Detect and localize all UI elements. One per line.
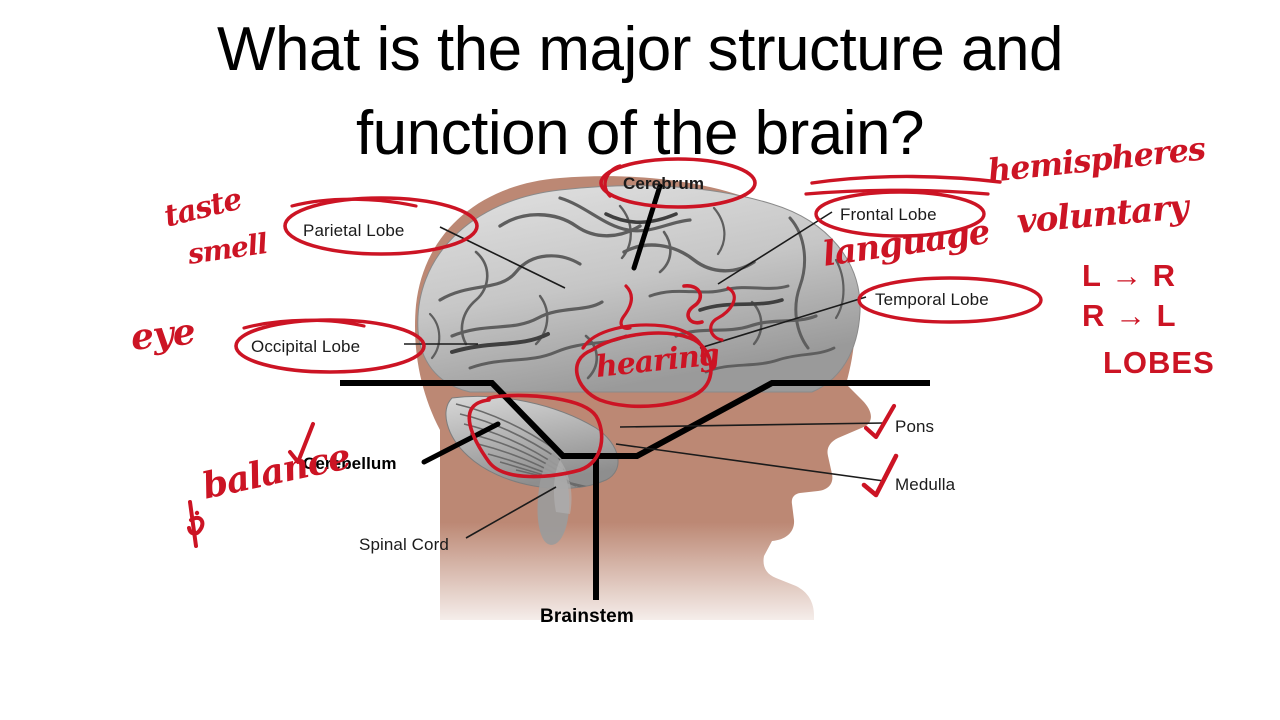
brain-diagram (0, 0, 1280, 720)
ink-stray-dot (195, 511, 199, 515)
label-frontal-lobe: Frontal Lobe (840, 205, 937, 225)
ink-check-medulla (864, 456, 896, 495)
label-cerebrum: Cerebrum (623, 174, 704, 194)
ink-circle-parietal-tail (292, 199, 416, 206)
ink-check-pons (866, 406, 894, 437)
label-occipital-lobe: Occipital Lobe (251, 337, 360, 357)
label-spinal-cord: Spinal Cord (359, 535, 449, 555)
cerebrum-illustration (418, 186, 860, 392)
label-parietal-lobe: Parietal Lobe (303, 221, 404, 241)
label-brainstem: Brainstem (540, 606, 634, 628)
slide-canvas: What is the major structure and function… (0, 0, 1280, 720)
ink-underline-1 (812, 176, 1000, 183)
label-medulla: Medulla (895, 475, 955, 495)
label-pons: Pons (895, 417, 934, 437)
label-cerebellum: Cerebellum (303, 454, 397, 474)
label-temporal-lobe: Temporal Lobe (875, 290, 989, 310)
ink-stray-b (189, 502, 202, 546)
